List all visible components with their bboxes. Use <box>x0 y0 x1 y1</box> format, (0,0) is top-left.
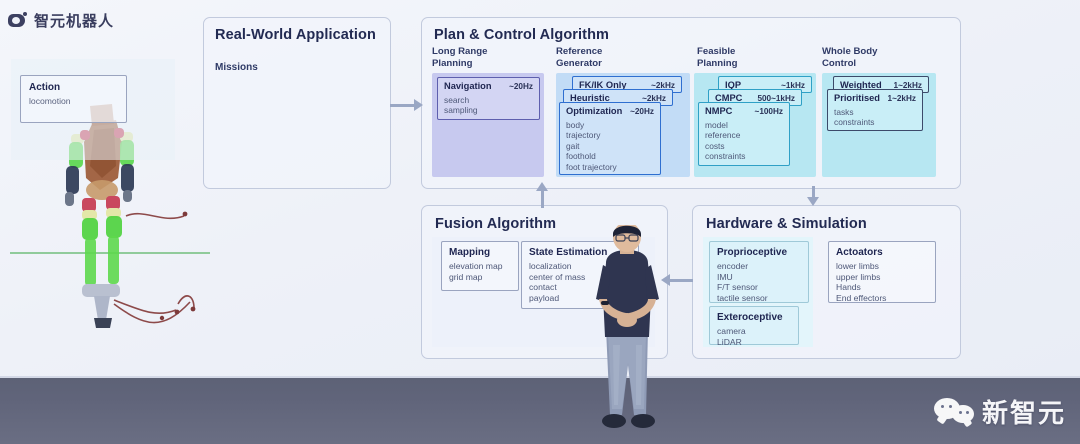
box-nmpc[interactable]: NMPC ~100Hz model reference costs constr… <box>698 102 790 166</box>
box-actoators-name: Actoators <box>836 247 883 258</box>
box-prioritised-freq: 1~2kHz <box>888 94 916 103</box>
arrow-hardware-to-fusion-shaft <box>670 279 693 282</box>
box-exteroceptive-items: camera LiDAR <box>717 326 746 347</box>
presenter-silhouette <box>586 225 672 437</box>
box-optimization[interactable]: Optimization ~20Hz body trajectory gait … <box>559 102 661 175</box>
box-action-items: locomotion <box>29 96 71 106</box>
panel-title: Fusion Algorithm <box>435 216 556 232</box>
box-mapping[interactable]: Mapping elevation map grid map <box>441 241 519 291</box>
arrow-up-icon <box>536 182 548 191</box>
box-exteroceptive-name: Exteroceptive <box>717 312 783 323</box>
wechat-icon <box>934 398 974 426</box>
brand-logo: 智元机器人 <box>8 10 114 31</box>
box-mapping-items: elevation map grid map <box>449 261 503 282</box>
box-optimization-name: Optimization <box>566 106 622 116</box>
box-prioritised-items: tasks constraints <box>834 107 875 128</box>
presenter-person <box>586 225 672 437</box>
box-nmpc-name: NMPC <box>705 106 732 116</box>
box-action[interactable]: Action locomotion <box>20 75 127 123</box>
column-title-whole-body-control: Whole Body Control <box>822 46 877 69</box>
box-state-estimation-items: localization center of mass contact payl… <box>529 261 585 303</box>
column-title-long-range-planning: Long Range Planning <box>432 46 487 69</box>
box-nmpc-items: model reference costs constraints <box>705 120 746 162</box>
arrow-right-icon <box>414 99 423 111</box>
box-actoators-items: lower limbs upper limbs Hands End effect… <box>836 261 886 303</box>
box-proprioceptive-items: encoder IMU F/T sensor tactile sensor <box>717 261 768 303</box>
box-navigation[interactable]: Navigation ~20Hz search sampling <box>437 77 540 120</box>
box-proprioceptive[interactable]: Proprioceptive encoder IMU F/T sensor ta… <box>709 241 809 303</box>
box-optimization-items: body trajectory gait foothold foot traje… <box>566 120 617 172</box>
box-actoators[interactable]: Actoators lower limbs upper limbs Hands … <box>828 241 936 303</box>
missions-label: Missions <box>215 62 258 73</box>
arrow-real-to-plan-shaft <box>390 104 416 107</box>
box-navigation-freq: ~20Hz <box>509 82 533 91</box>
box-prioritised[interactable]: Prioritised 1~2kHz tasks constraints <box>827 89 923 131</box>
box-prioritised-name: Prioritised <box>834 93 880 103</box>
box-navigation-items: search sampling <box>444 95 478 116</box>
panel-title: Plan & Control Algorithm <box>434 27 609 43</box>
arrow-fusion-to-plan-shaft <box>541 190 544 208</box>
panel-real-world-application: Real-World Application Missions <box>203 17 391 189</box>
box-exteroceptive[interactable]: Exteroceptive camera LiDAR <box>709 306 799 345</box>
robot-brand-icon <box>8 12 27 29</box>
box-nmpc-freq: ~100Hz <box>755 107 783 116</box>
panel-title: Real-World Application <box>215 27 376 43</box>
channel-watermark: 新智元 <box>934 393 1066 430</box>
box-proprioceptive-name: Proprioceptive <box>717 247 787 258</box>
brand-name: 智元机器人 <box>34 10 114 31</box>
box-navigation-name: Navigation <box>444 81 492 91</box>
column-title-reference-generator: Reference Generator <box>556 46 602 69</box>
arrow-down-icon <box>807 197 819 206</box>
column-title-feasible-planning: Feasible Planning <box>697 46 738 69</box>
box-action-name: Action <box>29 82 60 93</box>
watermark-text: 新智元 <box>982 393 1066 430</box>
box-mapping-name: Mapping <box>449 247 490 258</box>
panel-title: Hardware & Simulation <box>706 216 867 232</box>
box-optimization-freq: ~20Hz <box>630 107 654 116</box>
stage-floor <box>0 378 1080 444</box>
